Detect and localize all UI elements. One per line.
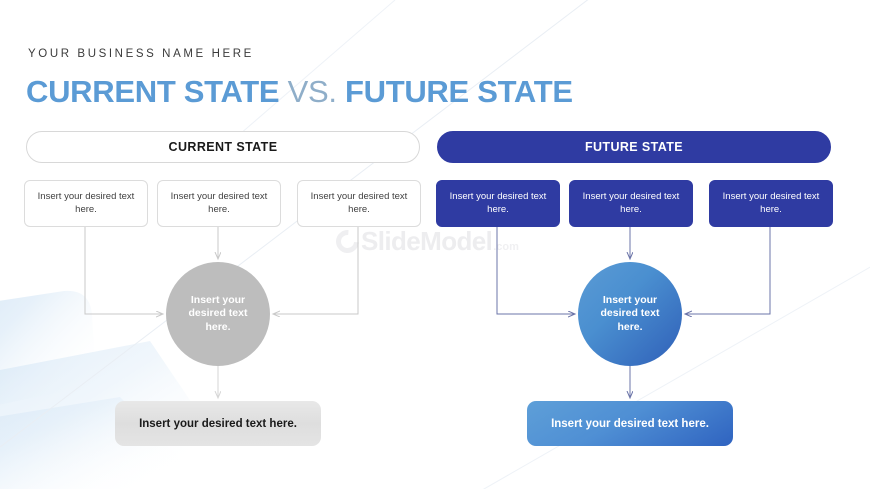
watermark-brand: SlideModel — [361, 226, 492, 257]
future-state-summary-box[interactable]: Insert your desired text here. — [527, 401, 733, 446]
current-state-top-box-3[interactable]: Insert your desired text here. — [297, 180, 421, 227]
future-state-top-box-1[interactable]: Insert your desired text here. — [436, 180, 560, 227]
current-state-header-pill[interactable]: CURRENT STATE — [26, 131, 420, 163]
watermark-ring-icon — [331, 225, 363, 257]
current-state-top-box-2[interactable]: Insert your desired text here. — [157, 180, 281, 227]
current-state-top-box-1[interactable]: Insert your desired text here. — [24, 180, 148, 227]
future-state-top-box-3[interactable]: Insert your desired text here. — [709, 180, 833, 227]
future-state-top-box-2[interactable]: Insert your desired text here. — [569, 180, 693, 227]
page-title: CURRENT STATE VS. FUTURE STATE — [26, 74, 573, 110]
decorative-corner-shapes — [0, 289, 330, 489]
title-vs: VS. — [288, 74, 337, 109]
slidemodel-watermark: SlideModel .com — [336, 226, 519, 257]
future-state-center-circle[interactable]: Insert your desired text here. — [578, 262, 682, 366]
slide-canvas: YOUR BUSINESS NAME HERE CURRENT STATE VS… — [0, 0, 870, 489]
title-future-state: FUTURE STATE — [337, 74, 573, 109]
watermark-tld: .com — [493, 241, 519, 253]
current-state-summary-box[interactable]: Insert your desired text here. — [115, 401, 321, 446]
current-state-center-circle[interactable]: Insert your desired text here. — [166, 262, 270, 366]
title-current-state: CURRENT STATE — [26, 74, 288, 109]
future-state-header-pill[interactable]: FUTURE STATE — [437, 131, 831, 163]
business-name-label: YOUR BUSINESS NAME HERE — [28, 48, 254, 60]
